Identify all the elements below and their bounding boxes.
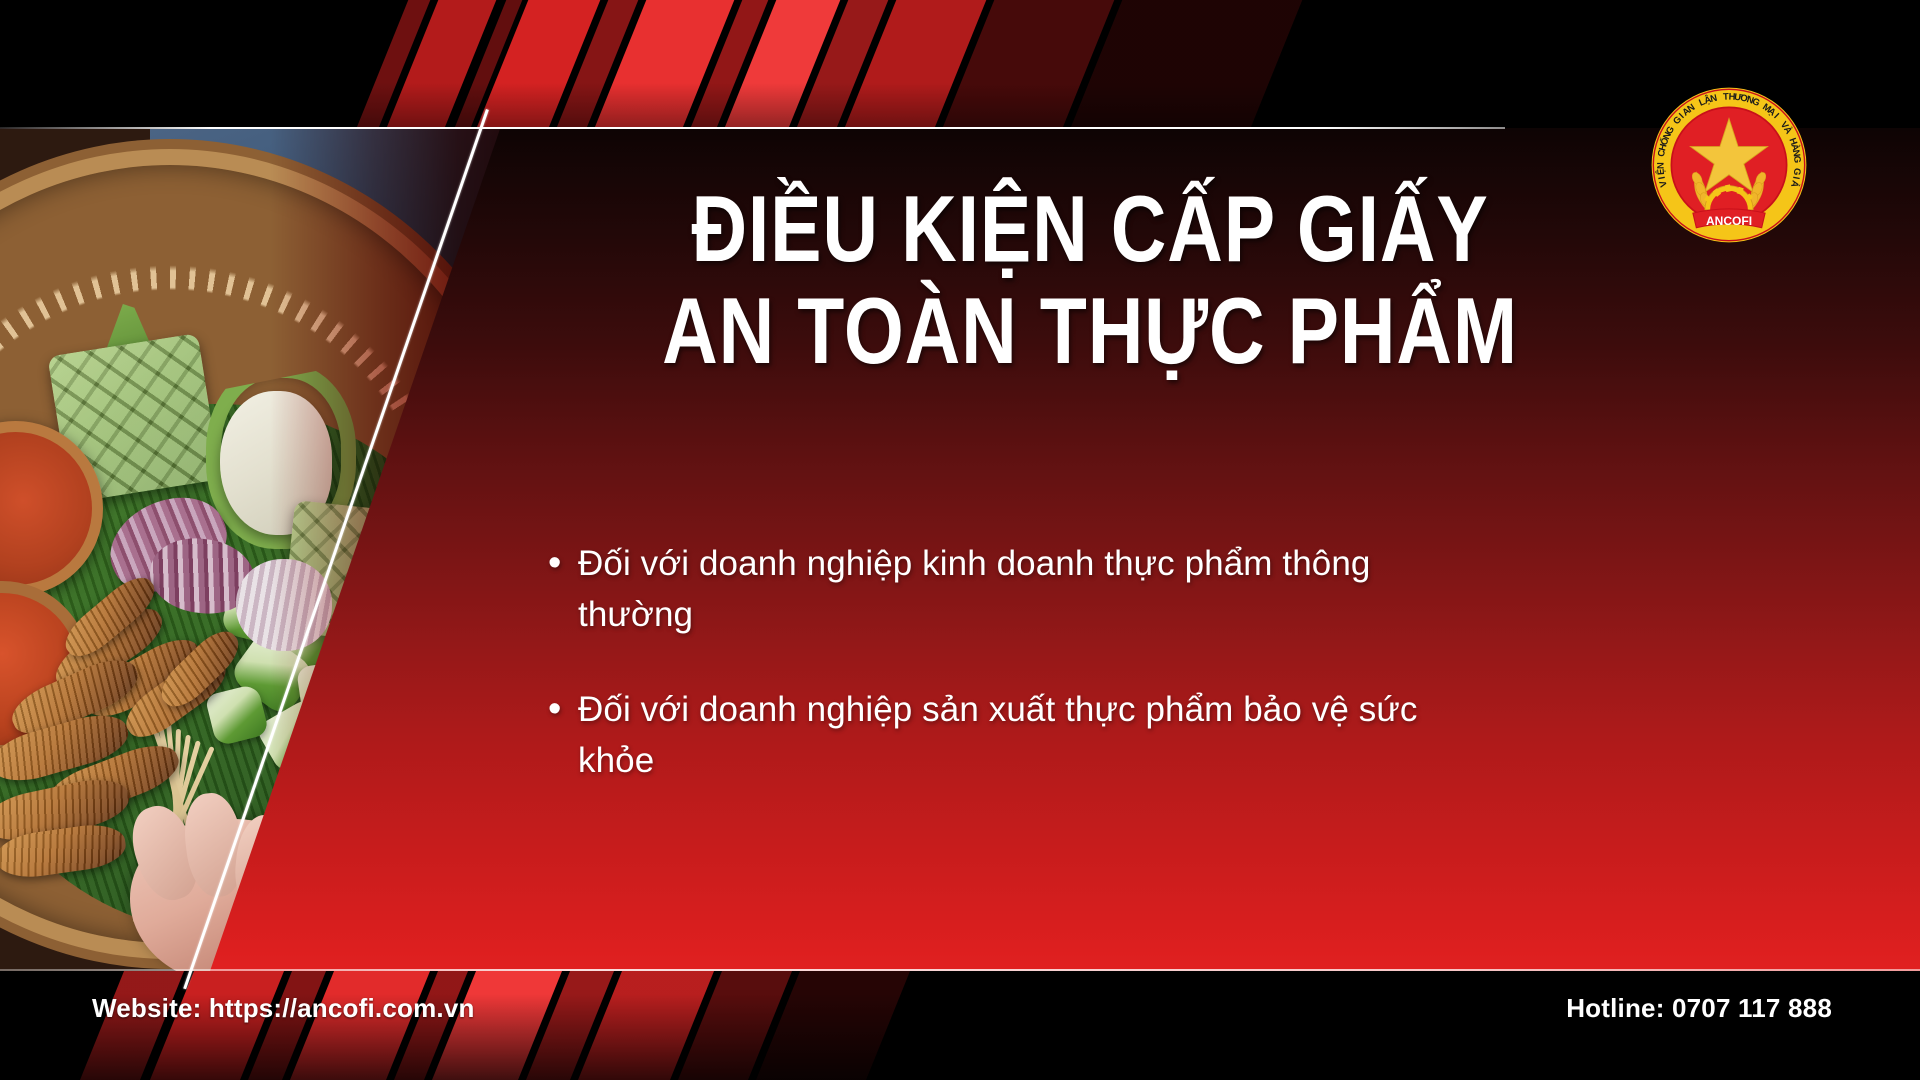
poster-canvas: ĐIỀU KIỆN CẤP GIẤY AN TOÀN THỰC PHẨM • Đ… [0,0,1920,1080]
ancofi-logo: VIỆNCHỐNGGIANLẬNTHƯƠNGMẠIVÀHÀNGGIẢ [1643,79,1815,251]
footer-diagonal-stripes [0,971,1000,1080]
top-diagonal-stripes [0,0,1920,128]
ancofi-logo-svg: VIỆNCHỐNGGIANLẬNTHƯƠNGMẠIVÀHÀNGGIẢ [1643,79,1815,251]
page-title: ĐIỀU KIỆN CẤP GIẤY AN TOÀN THỰC PHẨM [560,178,1620,382]
list-item-text: Đối với doanh nghiệp sản xuất thực phẩm … [578,684,1428,786]
svg-text:G: G [1791,167,1803,175]
bullet-list: • Đối với doanh nghiệp kinh doanh thực p… [548,538,1428,830]
logo-banner-text: ANCOFI [1706,214,1752,228]
top-banner-bar [0,0,1920,128]
list-item-text: Đối với doanh nghiệp kinh doanh thực phẩ… [578,538,1428,640]
title-line-1: ĐIỀU KIỆN CẤP GIẤY [655,178,1524,280]
footer-hotline[interactable]: Hotline: 0707 117 888 [1566,993,1832,1024]
list-item: • Đối với doanh nghiệp kinh doanh thực p… [548,538,1428,640]
list-item: • Đối với doanh nghiệp sản xuất thực phẩ… [548,684,1428,786]
bottom-divider-line [0,969,1920,971]
footer-website[interactable]: Website: https://ancofi.com.vn [92,993,475,1024]
top-divider-line [0,127,1505,129]
bullet-marker-icon: • [548,538,578,589]
svg-text:G: G [1791,155,1803,163]
svg-text:N: N [1656,162,1667,169]
footer-bar [0,971,1920,1080]
title-line-2: AN TOÀN THỰC PHẨM [655,280,1524,382]
bullet-marker-icon: • [548,684,578,735]
